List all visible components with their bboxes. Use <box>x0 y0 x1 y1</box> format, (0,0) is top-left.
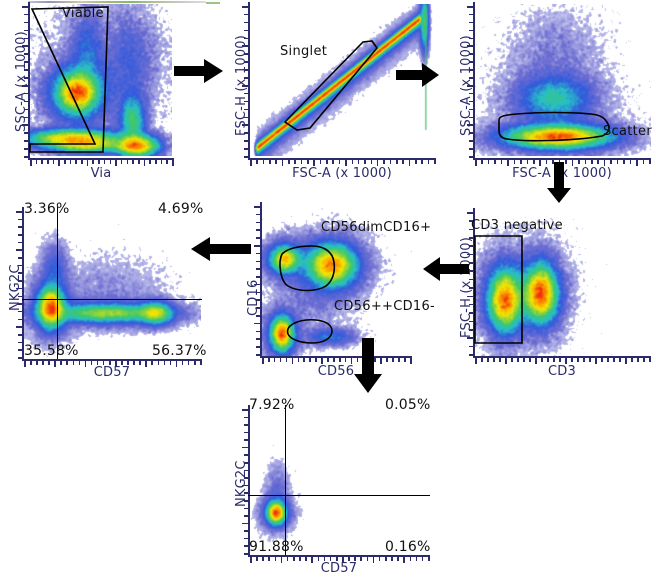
y-axis-label-viability: SSC-A (x 1000) <box>14 31 29 132</box>
arrow-cd56cd16-to-nkg2c-bright <box>353 338 383 394</box>
nkg2c-cd57-cd56bright-panel[interactable]: 7.92% 0.05% 91.88% 0.16% NKG2C CD57 <box>228 393 456 580</box>
quadrant-value-lower-right-dim: 56.37% <box>152 343 207 359</box>
cd3-panel[interactable]: CD3 negative FSC-H (x 1000) CD3 <box>455 198 656 383</box>
quadrant-value-lower-right-bright: 0.16% <box>385 539 430 555</box>
quadrant-value-upper-left-bright: 7.92% <box>249 397 294 413</box>
density-plot-nkg2c-cd57-dim <box>24 209 201 357</box>
y-axis-label-cd56-cd16: CD16 <box>246 280 261 316</box>
x-axis-label-viability: Via <box>28 166 174 181</box>
x-axis-label-singlet: FSC-A (x 1000) <box>248 166 436 181</box>
quadrant-value-upper-left-dim: 3.36% <box>24 201 69 217</box>
arrow-singlet-to-scatter <box>396 62 440 88</box>
x-axis-label-cd3: CD3 <box>473 364 651 379</box>
singlet-panel[interactable]: Singlet FSC-H (x 1000) FSC-A (x 1000) <box>225 0 437 185</box>
x-axis-label-nkg2c-bright: CD57 <box>248 561 430 576</box>
scatter-panel[interactable]: Scatter SSC-A (x 1000) FSC-A (x 1000) <box>455 0 656 185</box>
density-plot-nkg2c-cd57-bright <box>250 407 428 553</box>
cd56-cd16-panel[interactable]: CD56dimCD16+ CD56++CD16- CD16 CD56 <box>240 198 440 383</box>
y-axis-label-nkg2c-bright: NKG2C <box>234 460 249 507</box>
y-axis-label-scatter: SSC-A (x 1000) <box>459 35 474 136</box>
gate-singlet[interactable] <box>225 0 437 185</box>
x-axis-label-nkg2c-dim: CD57 <box>22 365 202 380</box>
quadrant-value-lower-left-dim: 35.58% <box>24 343 79 359</box>
y-axis-label-singlet: FSC-H (x 1000) <box>234 35 249 136</box>
viability-panel[interactable]: Viable SSC-A (x 1000) Via <box>0 0 175 185</box>
gate-label-cd3-negative: CD3 negative <box>471 218 563 233</box>
scan-artifact-line-2 <box>206 2 220 4</box>
x-axis-label-cd56-cd16: CD56 <box>260 364 412 379</box>
quadrant-divider-vertical-bright[interactable] <box>285 405 286 555</box>
gate-label-singlet: Singlet <box>280 44 327 59</box>
gate-label-cd56bright-cd16neg: CD56++CD16- <box>334 299 435 314</box>
y-axis-label-cd3: FSC-H (x 1000) <box>459 237 474 338</box>
gate-label-cd56dim-cd16pos: CD56dimCD16+ <box>321 220 431 235</box>
quadrant-divider-horizontal-bright[interactable] <box>248 495 430 496</box>
gate-label-scatter: Scatter <box>603 124 652 139</box>
gate-scatter[interactable] <box>455 0 656 185</box>
quadrant-divider-vertical-dim[interactable] <box>57 207 58 359</box>
quadrant-value-upper-right-dim: 4.69% <box>158 201 203 217</box>
quadrant-value-upper-right-bright: 0.05% <box>385 397 430 413</box>
y-axis-label-nkg2c-dim: NKG2C <box>8 264 23 311</box>
quadrant-value-lower-left-bright: 91.88% <box>249 539 304 555</box>
nkg2c-cd57-cd56dim-panel[interactable]: 3.36% 4.69% 35.58% 56.37% NKG2C CD57 <box>0 195 225 385</box>
gate-label-viable: Viable <box>62 6 104 21</box>
quadrant-divider-horizontal-dim[interactable] <box>22 299 202 300</box>
arrow-viability-to-singlet <box>174 58 224 84</box>
